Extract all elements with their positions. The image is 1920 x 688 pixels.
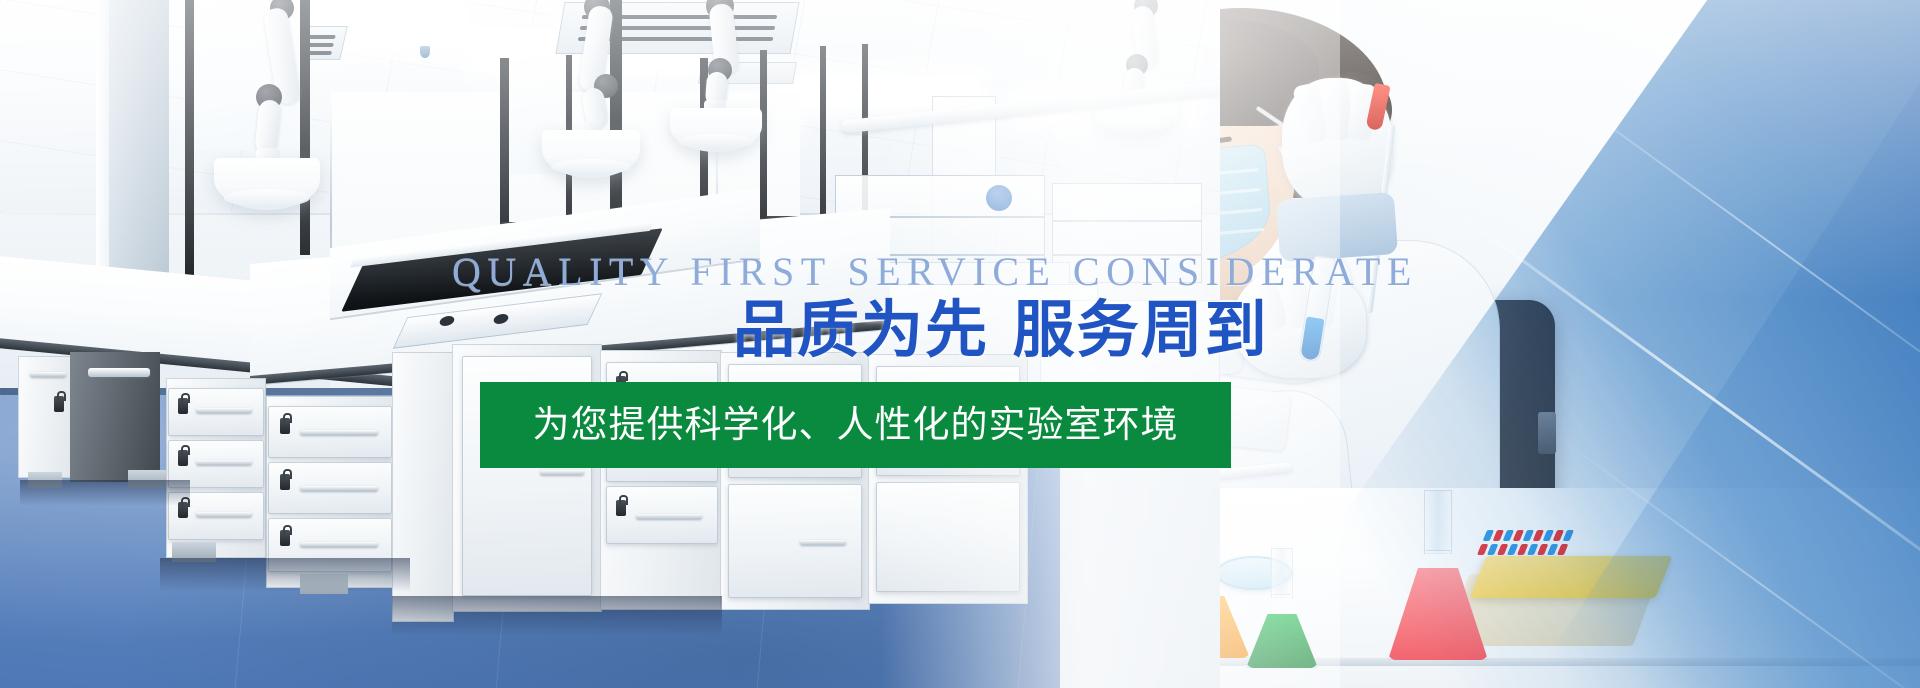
banner-subtitle-text: 为您提供科学化、人性化的实验室环境 [533,405,1179,445]
banner-subtitle-bar: 为您提供科学化、人性化的实验室环境 [480,382,1231,468]
banner-copy: QUALITY FIRST SERVICE CONSIDERATE 品质为先 服… [0,0,1920,688]
banner-eyebrow-text: QUALITY FIRST SERVICE CONSIDERATE [452,252,1418,292]
hero-banner: QUALITY FIRST SERVICE CONSIDERATE 品质为先 服… [0,0,1920,688]
banner-headline: 品质为先 服务周到 [733,297,1269,363]
